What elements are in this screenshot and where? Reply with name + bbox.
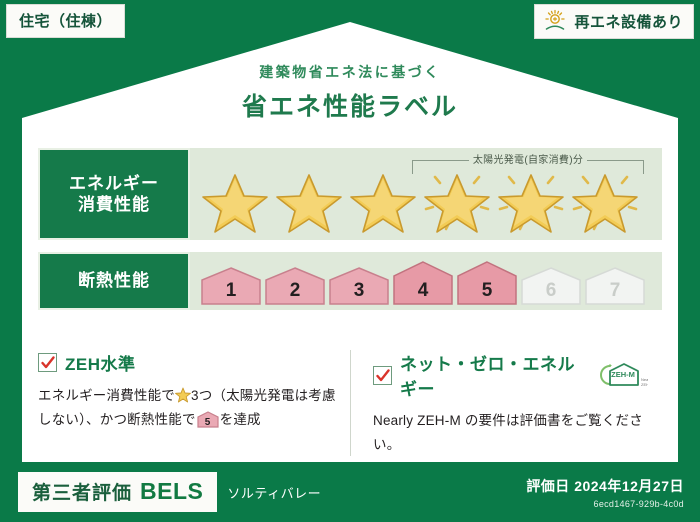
inline-grade-number: 5	[197, 414, 219, 432]
renewable-badge-label: 再エネ設備あり	[574, 11, 683, 32]
grade-number: 7	[584, 280, 646, 302]
solar-star-icon	[570, 169, 640, 233]
energy-performance-label-block: エネルギー 消費性能	[38, 148, 190, 240]
grade-badge-inactive: 6	[520, 266, 582, 306]
netzero-criterion: ネット・ゼロ・エネルギー ZEH-M Nearly ZEH-M Nearly Z…	[350, 350, 662, 456]
netzero-checkbox[interactable]	[373, 366, 392, 385]
solar-star-icon	[422, 169, 492, 233]
bels-certification-badge: 第三者評価 BELS	[18, 472, 217, 512]
grade-badge: 3	[328, 266, 390, 306]
insulation-performance-row: 断熱性能 1 2	[38, 252, 662, 310]
builder-name: ソルティバレー	[227, 483, 321, 502]
zeh-criterion-text: エネルギー消費性能で3つ（太陽光発電は考慮しない）、かつ断熱性能で5を達成	[38, 384, 336, 431]
solar-annotation: 太陽光発電(自家消費)分	[412, 150, 644, 168]
insulation-row-body: 1 2 3	[190, 252, 662, 310]
bels-en-label: BELS	[140, 478, 203, 505]
evaluation-id: 6ecd1467-929b-4c0d	[526, 499, 684, 509]
performance-rows: エネルギー 消費性能 太陽光発電(自家消費)分	[38, 148, 662, 322]
solar-star-icon	[496, 169, 566, 233]
label-title-block: 建築物省エネ法に基づく 省エネ性能ラベル	[0, 62, 700, 123]
inline-star-icon	[175, 387, 191, 403]
criteria-section: ZEH水準 エネルギー消費性能で3つ（太陽光発電は考慮しない）、かつ断熱性能で5…	[38, 350, 662, 456]
building-type-tag: 住宅（住棟）	[6, 4, 125, 38]
evaluation-info: 評価日 2024年12月27日 6ecd1467-929b-4c0d	[526, 476, 684, 509]
grade-number: 1	[200, 280, 262, 302]
inline-grade-badge: 5	[197, 411, 219, 428]
grade-badge: 4	[392, 260, 454, 306]
zeh-m-logo-sub-2: ZEH-M	[641, 382, 648, 387]
bels-jp-label: 第三者評価	[32, 478, 132, 505]
grade-badge: 2	[264, 266, 326, 306]
netzero-criterion-text: Nearly ZEH-M の要件は評価書をご覧ください。	[373, 409, 648, 456]
netzero-criterion-title: ネット・ゼロ・エネルギー	[400, 350, 588, 400]
zeh-criterion-header: ZEH水準	[38, 350, 336, 375]
netzero-criterion-header: ネット・ゼロ・エネルギー ZEH-M Nearly ZEH-M	[373, 350, 648, 400]
renewable-equipment-badge: 再エネ設備あり	[534, 4, 694, 39]
star-icon	[200, 169, 270, 233]
grade-number: 5	[456, 280, 518, 302]
energy-star-rating	[200, 169, 640, 233]
grade-badge: 5	[456, 260, 518, 306]
insulation-performance-label-block: 断熱性能	[38, 252, 190, 310]
grade-number: 3	[328, 280, 390, 302]
grade-number: 6	[520, 280, 582, 302]
zeh-text-part-1: エネルギー消費性能で	[38, 388, 175, 403]
evaluation-date: 評価日 2024年12月27日	[526, 476, 684, 496]
zeh-m-logo-text: ZEH-M	[611, 370, 635, 379]
energy-performance-label: 住宅（住棟） 再エネ設備あり 建築物省エネ法に基づく	[0, 0, 700, 522]
solar-annotation-label: 太陽光発電(自家消費)分	[469, 151, 587, 166]
grade-badge-inactive: 7	[584, 266, 646, 306]
grade-number: 4	[392, 280, 454, 302]
star-icon	[348, 169, 418, 233]
grade-badge: 1	[200, 266, 262, 306]
zeh-checkbox[interactable]	[38, 353, 57, 372]
label-footer: 第三者評価 BELS ソルティバレー 評価日 2024年12月27日 6ecd1…	[0, 462, 700, 522]
grade-number: 2	[264, 280, 326, 302]
energy-label-line-2: 消費性能	[78, 194, 150, 215]
zeh-text-part-4: を達成	[220, 412, 261, 427]
title-subtitle: 建築物省エネ法に基づく	[0, 62, 700, 82]
energy-performance-row: エネルギー 消費性能 太陽光発電(自家消費)分	[38, 148, 662, 240]
energy-row-body: 太陽光発電(自家消費)分	[190, 148, 662, 240]
zeh-criterion: ZEH水準 エネルギー消費性能で3つ（太陽光発電は考慮しない）、かつ断熱性能で5…	[38, 350, 350, 456]
zeh-criterion-title: ZEH水準	[65, 350, 136, 375]
zeh-m-logo-icon: ZEH-M Nearly ZEH-M	[598, 360, 648, 390]
sun-solar-icon	[543, 9, 567, 33]
zeh-text-part-2: 3つ（太陽光発電	[191, 388, 295, 403]
energy-label-line-1: エネルギー	[69, 173, 159, 194]
insulation-grade-scale: 1 2 3	[200, 252, 646, 310]
star-icon	[274, 169, 344, 233]
insulation-label: 断熱性能	[78, 270, 150, 291]
page-title: 省エネ性能ラベル	[0, 87, 700, 123]
